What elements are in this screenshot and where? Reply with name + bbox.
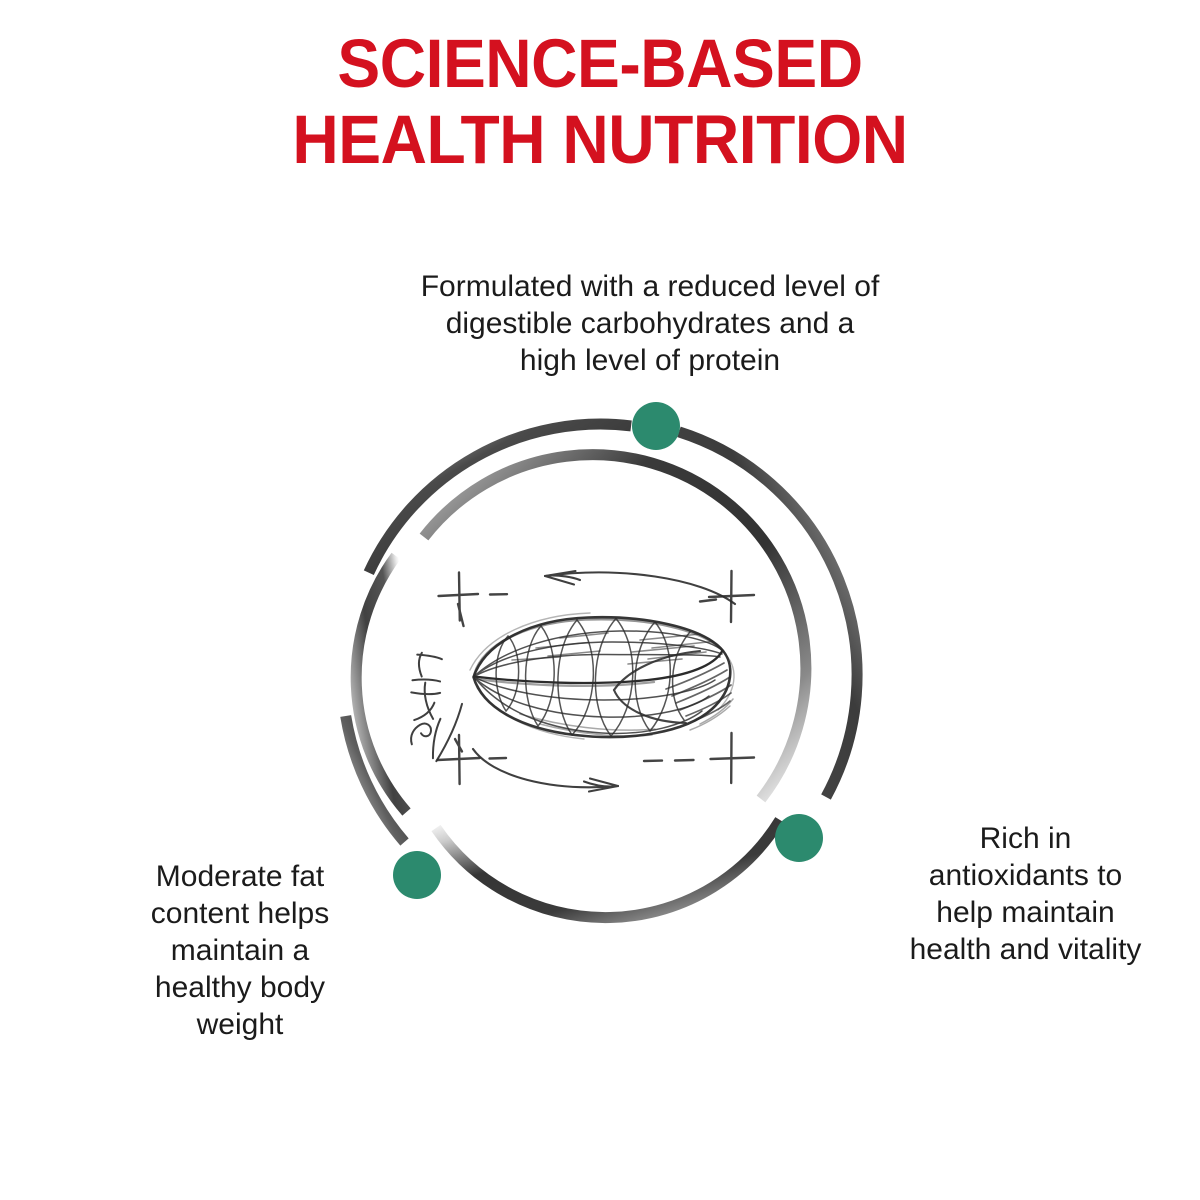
feature-marker-top[interactable] xyxy=(632,402,680,450)
title-line-2: HEALTH NUTRITION xyxy=(42,102,1158,178)
feature-caption-right: Rich in antioxidants to help maintain he… xyxy=(858,820,1193,968)
page-title: SCIENCE-BASED HEALTH NUTRITION xyxy=(0,26,1200,178)
feature-caption-top: Formulated with a reduced level of diges… xyxy=(330,268,970,379)
feature-caption-left: Moderate fat content helps maintain a he… xyxy=(100,858,380,1043)
feature-marker-left[interactable] xyxy=(393,851,441,899)
title-line-1: SCIENCE-BASED xyxy=(42,26,1158,102)
infographic-canvas: SCIENCE-BASED HEALTH NUTRITION xyxy=(0,0,1200,1200)
feature-marker-right[interactable] xyxy=(775,814,823,862)
